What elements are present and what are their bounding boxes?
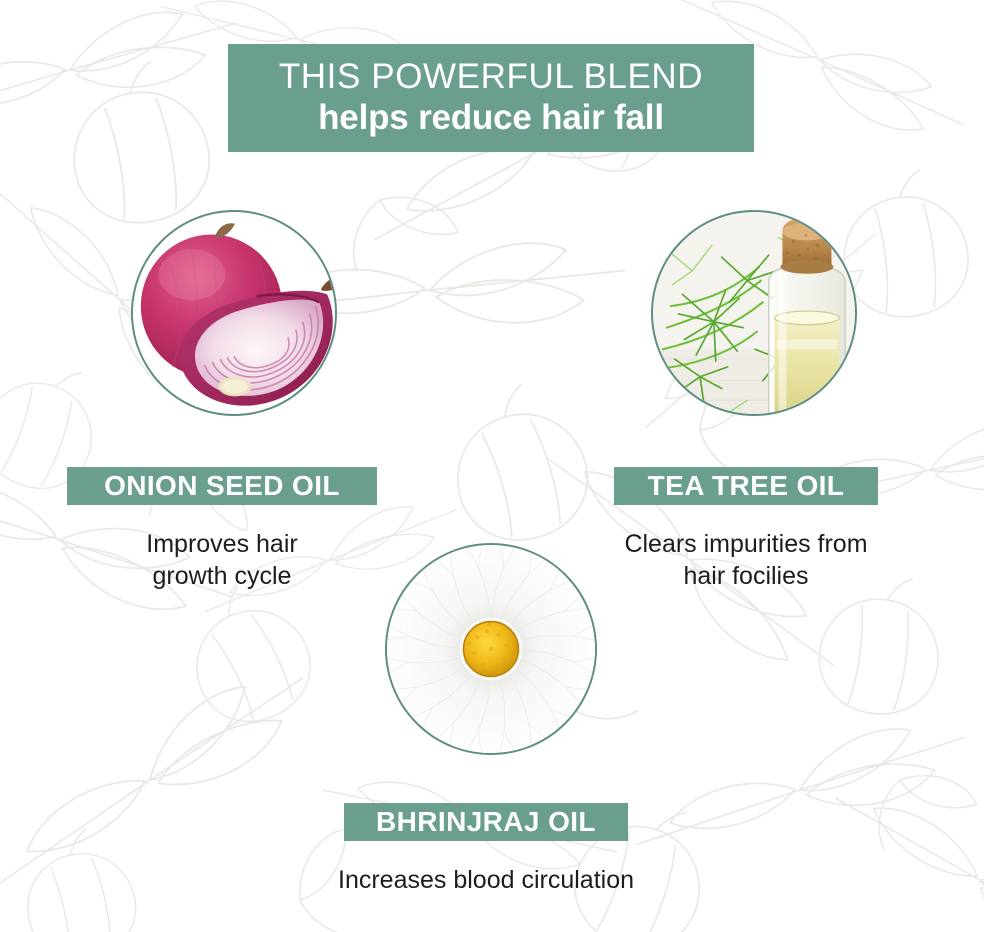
bhrinjraj-oil-label: BHRINJRAJ OIL: [344, 803, 628, 841]
headline-banner: THIS POWERFUL BLEND helps reduce hair fa…: [228, 44, 754, 152]
headline-line-2: helps reduce hair fall: [318, 97, 664, 138]
onion-seed-oil-image: [131, 210, 337, 416]
onion-seed-oil-label: ONION SEED OIL: [67, 467, 377, 505]
infographic-canvas: THIS POWERFUL BLEND helps reduce hair fa…: [0, 0, 984, 932]
bhrinjraj-oil-image: [385, 543, 597, 755]
bhrinjraj-oil-description: Increases blood circulation: [282, 864, 690, 896]
onion-seed-oil-description: Improves hair growth cycle: [62, 528, 382, 592]
tea-tree-oil-image: [651, 210, 857, 416]
tea-tree-oil-label: TEA TREE OIL: [614, 467, 878, 505]
headline-line-1: THIS POWERFUL BLEND: [279, 57, 703, 96]
tea-tree-oil-description: Clears impurities from hair focilies: [604, 528, 888, 592]
